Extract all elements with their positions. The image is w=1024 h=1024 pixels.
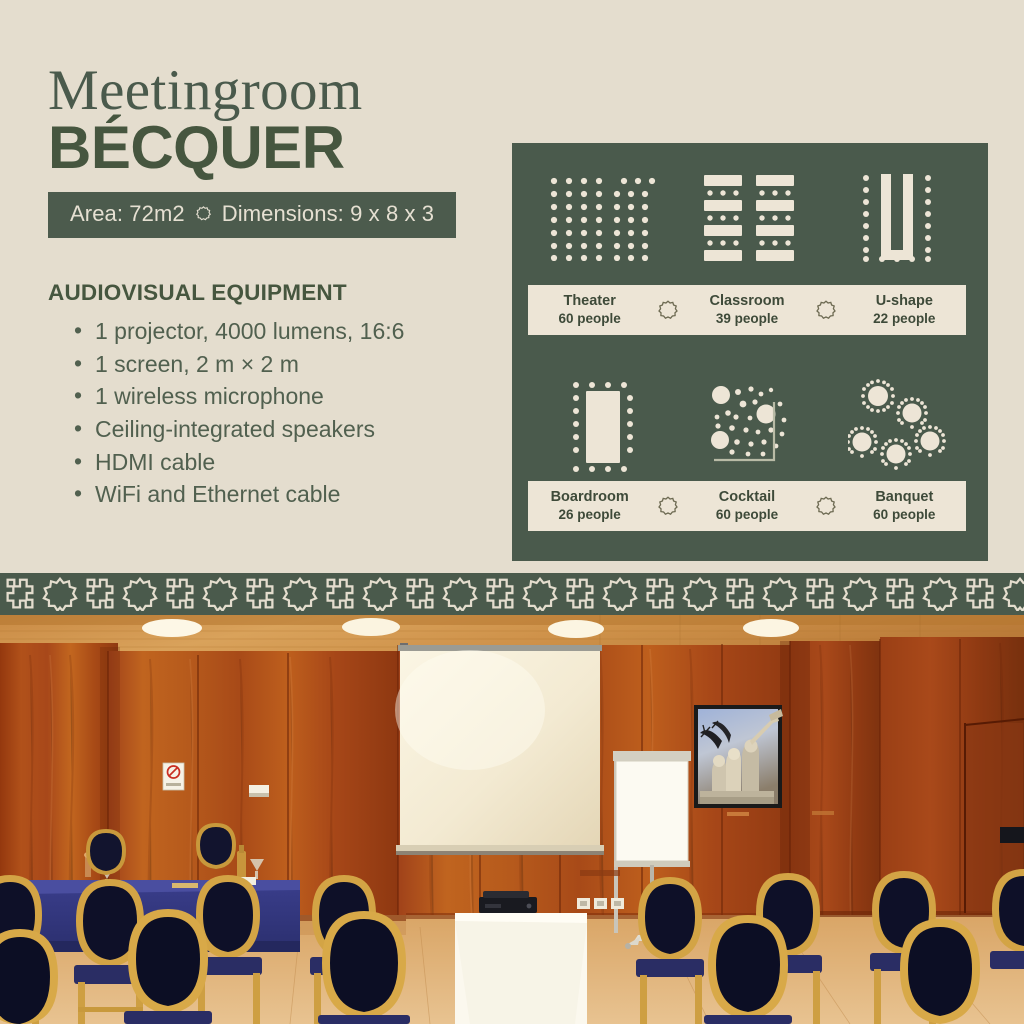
starburst-ornament-icon	[360, 577, 400, 611]
capacity-people: 39 people	[685, 310, 808, 328]
capacity-name: U-shape	[843, 292, 966, 310]
capacity-row-2: Boardroom 26 people Cocktail 60 people	[512, 352, 988, 561]
boardroom-layout-icon	[530, 352, 677, 502]
room-spec-bar: Area: 72m2 Dimensions: 9 x 8 x 3	[48, 192, 456, 238]
cross-ornament-icon	[240, 577, 280, 611]
capacity-row-1: Theater 60 people Classroom 39 people	[512, 143, 988, 352]
cross-ornament-icon	[160, 577, 200, 611]
cross-ornament-icon	[800, 577, 840, 611]
capacity-label-u-shape: U-shape 22 people	[843, 292, 966, 328]
info-section: Meetingroom BÉCQUER Area: 72m2 Dimension…	[0, 0, 1024, 573]
decor-ornament-pair	[80, 577, 160, 611]
decor-ornament-pair	[400, 577, 480, 611]
cross-ornament-icon	[480, 577, 520, 611]
cross-ornament-icon	[400, 577, 440, 611]
spec-dimensions-label: Dimensions: 9 x 8 x 3	[222, 201, 434, 227]
decor-ornament-pair	[320, 577, 400, 611]
list-item: 1 screen, 2 m × 2 m	[48, 348, 498, 381]
starburst-ornament-icon	[760, 577, 800, 611]
cross-ornament-icon	[880, 577, 920, 611]
capacity-icons-row-2	[512, 352, 988, 502]
capacity-label-classroom: Classroom 39 people	[685, 292, 808, 328]
starburst-ornament-icon	[1000, 577, 1024, 611]
decor-ornament-pair	[160, 577, 240, 611]
cross-ornament-icon	[720, 577, 760, 611]
decor-ornament-pair	[800, 577, 880, 611]
spec-area-label: Area: 72m2	[70, 201, 185, 227]
starburst-ornament-icon	[520, 577, 560, 611]
cocktail-layout-icon	[677, 352, 824, 502]
capacity-people: 22 people	[843, 310, 966, 328]
starburst-ornament-icon	[40, 577, 80, 611]
capacity-people: 26 people	[528, 506, 651, 524]
list-item: Ceiling-integrated speakers	[48, 413, 498, 446]
equipment-list: 1 projector, 4000 lumens, 16:6 1 screen,…	[48, 315, 498, 511]
cross-ornament-icon	[560, 577, 600, 611]
starburst-ornament-icon	[680, 577, 720, 611]
cross-ornament-icon	[960, 577, 1000, 611]
page-title-room-name: BÉCQUER	[48, 118, 498, 178]
decor-ornament-pair	[240, 577, 320, 611]
capacity-panel: Theater 60 people Classroom 39 people	[512, 143, 988, 561]
decorative-divider-strip	[0, 573, 1024, 615]
starburst-ornament-icon	[809, 300, 843, 320]
cross-ornament-icon	[0, 577, 40, 611]
capacity-name: Boardroom	[528, 488, 651, 506]
capacity-label-boardroom: Boardroom 26 people	[528, 488, 651, 524]
page-title-script: Meetingroom	[48, 62, 498, 120]
capacity-label-theater: Theater 60 people	[528, 292, 651, 328]
decor-ornament-pair	[560, 577, 640, 611]
starburst-ornament-icon	[196, 201, 211, 227]
classroom-layout-icon	[677, 143, 824, 293]
cross-ornament-icon	[320, 577, 360, 611]
capacity-labels-row-2: Boardroom 26 people Cocktail 60 people	[528, 481, 966, 531]
decor-ornament-pair	[960, 577, 1024, 611]
starburst-ornament-icon	[280, 577, 320, 611]
list-item: 1 projector, 4000 lumens, 16:6	[48, 315, 498, 348]
starburst-ornament-icon	[920, 577, 960, 611]
capacity-name: Theater	[528, 292, 651, 310]
starburst-ornament-icon	[809, 496, 843, 516]
decor-ornament-pair	[0, 577, 80, 611]
capacity-name: Classroom	[685, 292, 808, 310]
room-info-column: Meetingroom BÉCQUER Area: 72m2 Dimension…	[48, 62, 498, 511]
theater-layout-icon	[530, 143, 677, 293]
decor-ornament-pair	[880, 577, 960, 611]
list-item: HDMI cable	[48, 446, 498, 479]
starburst-ornament-icon	[651, 496, 685, 516]
starburst-ornament-icon	[200, 577, 240, 611]
starburst-ornament-icon	[440, 577, 480, 611]
capacity-name: Banquet	[843, 488, 966, 506]
capacity-label-cocktail: Cocktail 60 people	[685, 488, 808, 524]
starburst-ornament-icon	[651, 300, 685, 320]
u-shape-layout-icon	[823, 143, 970, 293]
capacity-people: 60 people	[528, 310, 651, 328]
capacity-icons-row-1	[512, 143, 988, 293]
decor-ornament-pair	[640, 577, 720, 611]
list-item: 1 wireless microphone	[48, 380, 498, 413]
starburst-ornament-icon	[120, 577, 160, 611]
starburst-ornament-icon	[600, 577, 640, 611]
banquet-layout-icon	[823, 352, 970, 502]
list-item: WiFi and Ethernet cable	[48, 478, 498, 511]
decor-ornament-pair	[720, 577, 800, 611]
meeting-room-photo	[0, 615, 1024, 1024]
capacity-people: 60 people	[843, 506, 966, 524]
cross-ornament-icon	[640, 577, 680, 611]
starburst-ornament-icon	[840, 577, 880, 611]
cross-ornament-icon	[80, 577, 120, 611]
equipment-heading: AUDIOVISUAL EQUIPMENT	[48, 280, 498, 306]
capacity-labels-row-1: Theater 60 people Classroom 39 people	[528, 285, 966, 335]
capacity-name: Cocktail	[685, 488, 808, 506]
capacity-people: 60 people	[685, 506, 808, 524]
decor-ornament-pair	[480, 577, 560, 611]
capacity-label-banquet: Banquet 60 people	[843, 488, 966, 524]
